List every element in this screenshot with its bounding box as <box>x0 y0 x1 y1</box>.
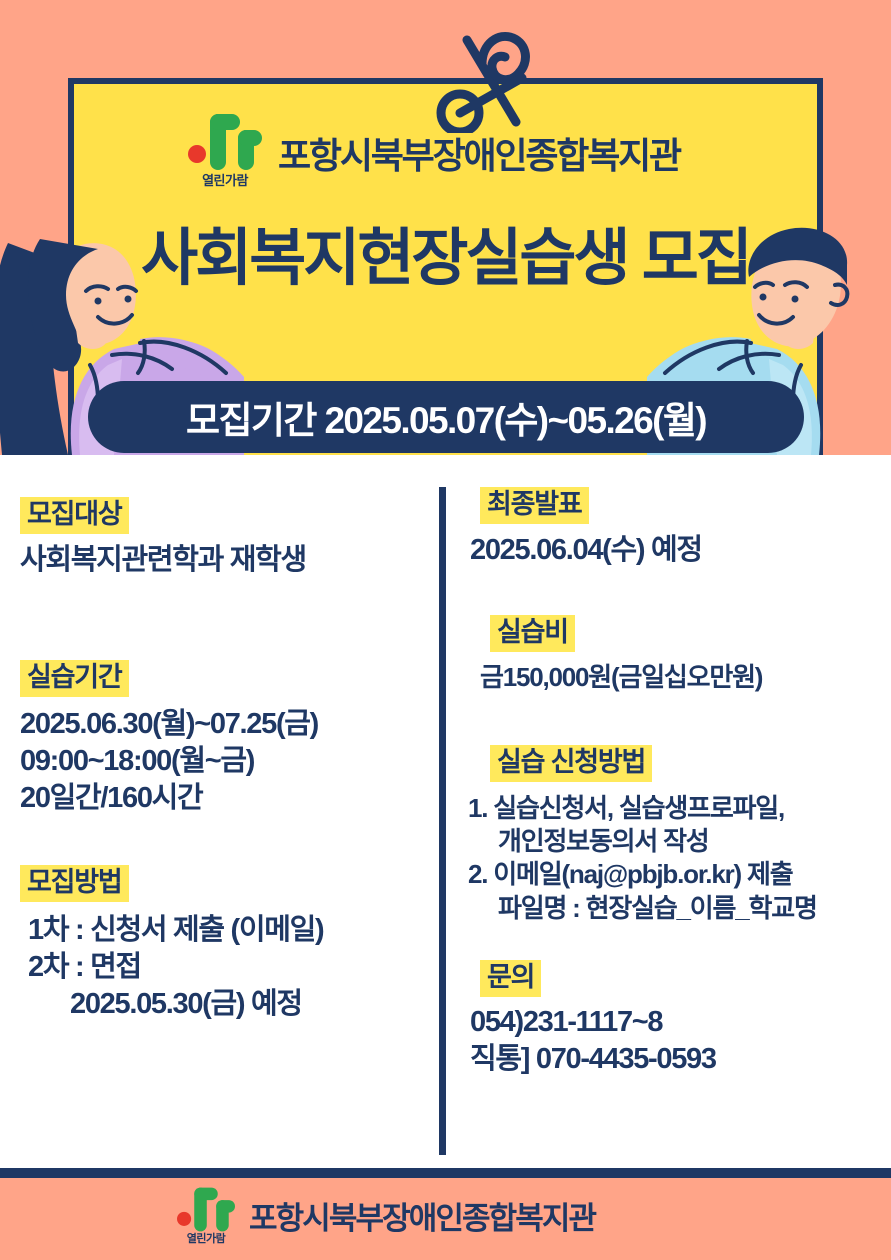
recruitment-period-banner: 모집기간 2025.05.07(수)~05.26(월) <box>88 381 804 453</box>
recruit-method-values: 1차 : 신청서 제출 (이메일) 2차 : 면접 2025.05.30(금) … <box>28 913 323 1021</box>
logo-subtext: 열린가람 <box>186 170 264 189</box>
footer-logo-lockup: 열린가람 포항시북부장애인종합복지관 <box>175 1186 595 1244</box>
application-method-values: 1. 실습신청서, 실습생프로파일, 개인정보동의서 작성 2. 이메일(naj… <box>468 793 817 924</box>
yeollin-garam-logo-icon: 열린가람 <box>186 112 264 186</box>
hero-section: 열린가람 포항시북부장애인종합복지관 사회복지현장실습생 모집 <box>0 0 891 455</box>
practice-period-values: 2025.06.30(월)~07.25(금) 09:00~18:00(월~금) … <box>20 707 318 815</box>
practice-period-line: 20일간/160시간 <box>20 781 318 816</box>
safety-pin-icon <box>430 18 555 133</box>
practice-fee-value: 금150,000원(금일십오만원) <box>480 662 762 693</box>
practice-period-heading-block: 실습기간 <box>20 660 129 697</box>
contact-heading-block: 문의 <box>480 960 541 997</box>
final-announcement-value: 2025.06.04(수) 예정 <box>470 533 702 568</box>
footer-section: 열린가람 포항시북부장애인종합복지관 <box>0 1178 891 1260</box>
contact-heading: 문의 <box>480 960 541 997</box>
logo-subtext: 열린가람 <box>175 1230 237 1246</box>
practice-period-heading: 실습기간 <box>20 660 129 697</box>
practice-period-line: 09:00~18:00(월~금) <box>20 744 318 779</box>
contact-phone-line: 054)231-1117~8 <box>470 1005 716 1040</box>
target-heading-block: 모집대상 <box>20 497 129 534</box>
practice-fee-heading: 실습비 <box>490 615 575 652</box>
target-value: 사회복지관련학과 재학생 <box>20 543 306 578</box>
recruit-method-heading: 모집방법 <box>20 865 129 902</box>
application-method-line: 1. 실습신청서, 실습생프로파일, <box>468 793 817 824</box>
practice-fee-heading-block: 실습비 <box>490 615 575 652</box>
target-heading: 모집대상 <box>20 497 129 534</box>
footer-divider-rule <box>0 1168 891 1178</box>
yeollin-garam-logo-icon: 열린가람 <box>175 1186 237 1244</box>
recruitment-period-text: 모집기간 2025.05.07(수)~05.26(월) <box>186 390 706 444</box>
application-method-line: 파일명 : 현장실습_이름_학교명 <box>468 893 817 924</box>
recruit-method-heading-block: 모집방법 <box>20 865 129 902</box>
recruit-method-line: 2차 : 면접 <box>28 950 323 985</box>
poster-title: 사회복지현장실습생 모집 <box>0 228 891 290</box>
final-announcement-heading: 최종발표 <box>480 487 589 524</box>
details-section: 모집대상 사회복지관련학과 재학생 실습기간 2025.06.30(월)~07.… <box>0 455 891 1185</box>
contact-phone-line: 직통] 070-4435-0593 <box>470 1042 716 1077</box>
practice-period-line: 2025.06.30(월)~07.25(금) <box>20 707 318 742</box>
application-method-heading: 실습 신청방법 <box>490 745 652 782</box>
column-divider <box>439 487 446 1155</box>
footer-organization-name: 포항시북부장애인종합복지관 <box>249 1203 595 1244</box>
application-method-line: 개인정보동의서 작성 <box>468 826 817 857</box>
application-method-heading-block: 실습 신청방법 <box>490 745 652 782</box>
poster-root: 열린가람 포항시북부장애인종합복지관 사회복지현장실습생 모집 <box>0 0 891 1260</box>
application-method-line: 2. 이메일(naj@pbjb.or.kr) 제출 <box>468 859 817 890</box>
recruit-method-line: 1차 : 신청서 제출 (이메일) <box>28 913 323 948</box>
contact-values: 054)231-1117~8 직통] 070-4435-0593 <box>470 1005 716 1077</box>
final-announcement-heading-block: 최종발표 <box>480 487 589 524</box>
recruit-method-line: 2025.05.30(금) 예정 <box>28 987 323 1022</box>
header-organization-name: 포항시북부장애인종합복지관 <box>278 138 680 186</box>
